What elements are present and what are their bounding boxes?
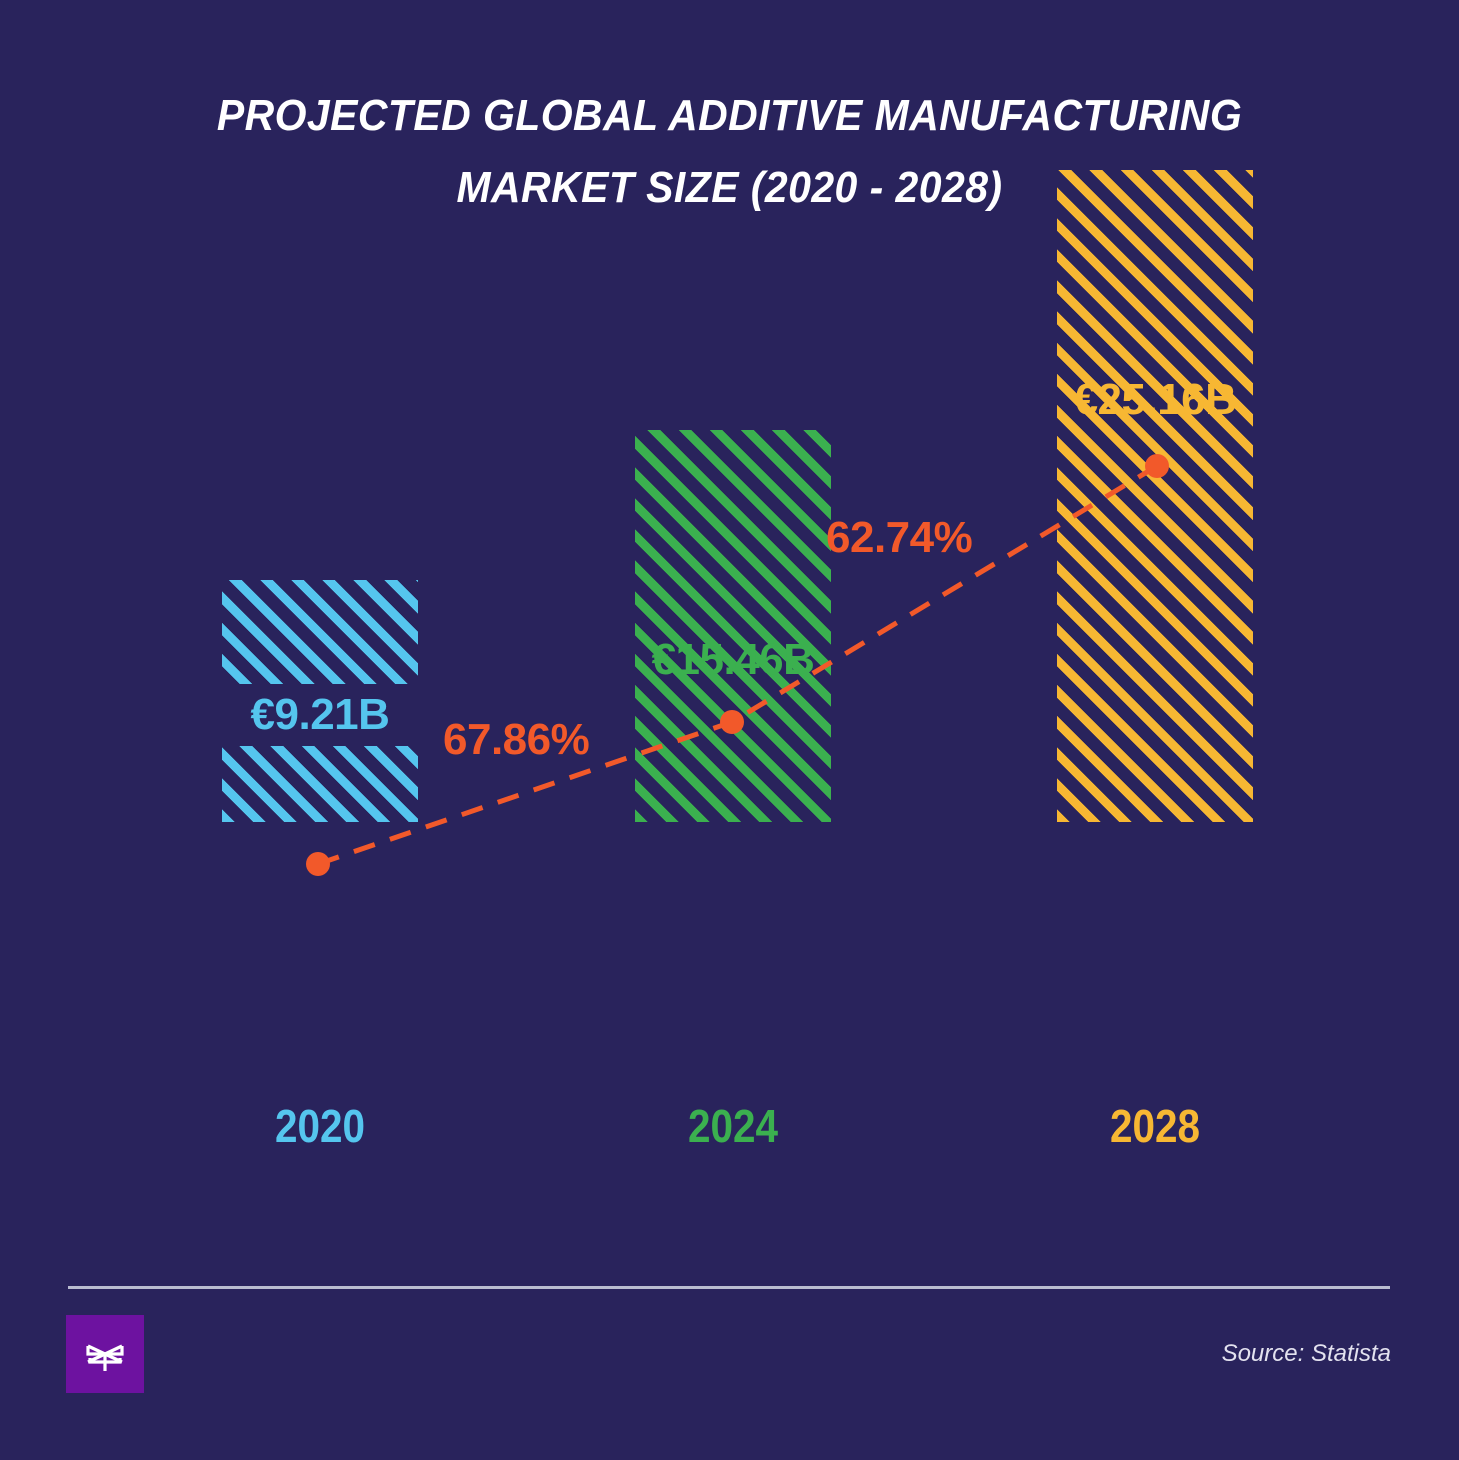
infographic-canvas: PROJECTED GLOBAL ADDITIVE MANUFACTURING … (0, 0, 1459, 1460)
trend-marker-2020 (306, 852, 330, 876)
source-credit: Source: Statista (1222, 1338, 1391, 1370)
bar-2028-hatch-fill (1057, 170, 1253, 822)
growth-label-2020-2024: 67.86% (443, 714, 589, 766)
butterfly-mark-icon (66, 1315, 144, 1393)
brand-logo[interactable] (66, 1315, 144, 1393)
bar-2024[interactable] (635, 430, 831, 822)
footer-divider (68, 1286, 1390, 1289)
bar-2024-hatch-fill (635, 430, 831, 822)
bar-2028-value-label: €25.16B (1015, 374, 1295, 426)
x-axis-label-2024: 2024 (647, 1100, 819, 1152)
bar-2028[interactable] (1057, 170, 1253, 822)
bar-2020-value-label: €9.21B (222, 684, 418, 746)
bar-2020[interactable]: €9.21B (222, 580, 418, 822)
x-axis-label-2020: 2020 (234, 1100, 406, 1152)
bar-2024-value-label: €15.46B (593, 634, 873, 686)
x-axis-label-2028: 2028 (1069, 1100, 1241, 1152)
bar-chart: €9.21B €15.46B €25.16B 2020 2024 2028 67… (0, 0, 1459, 1200)
growth-label-2024-2028: 62.74% (826, 512, 972, 564)
